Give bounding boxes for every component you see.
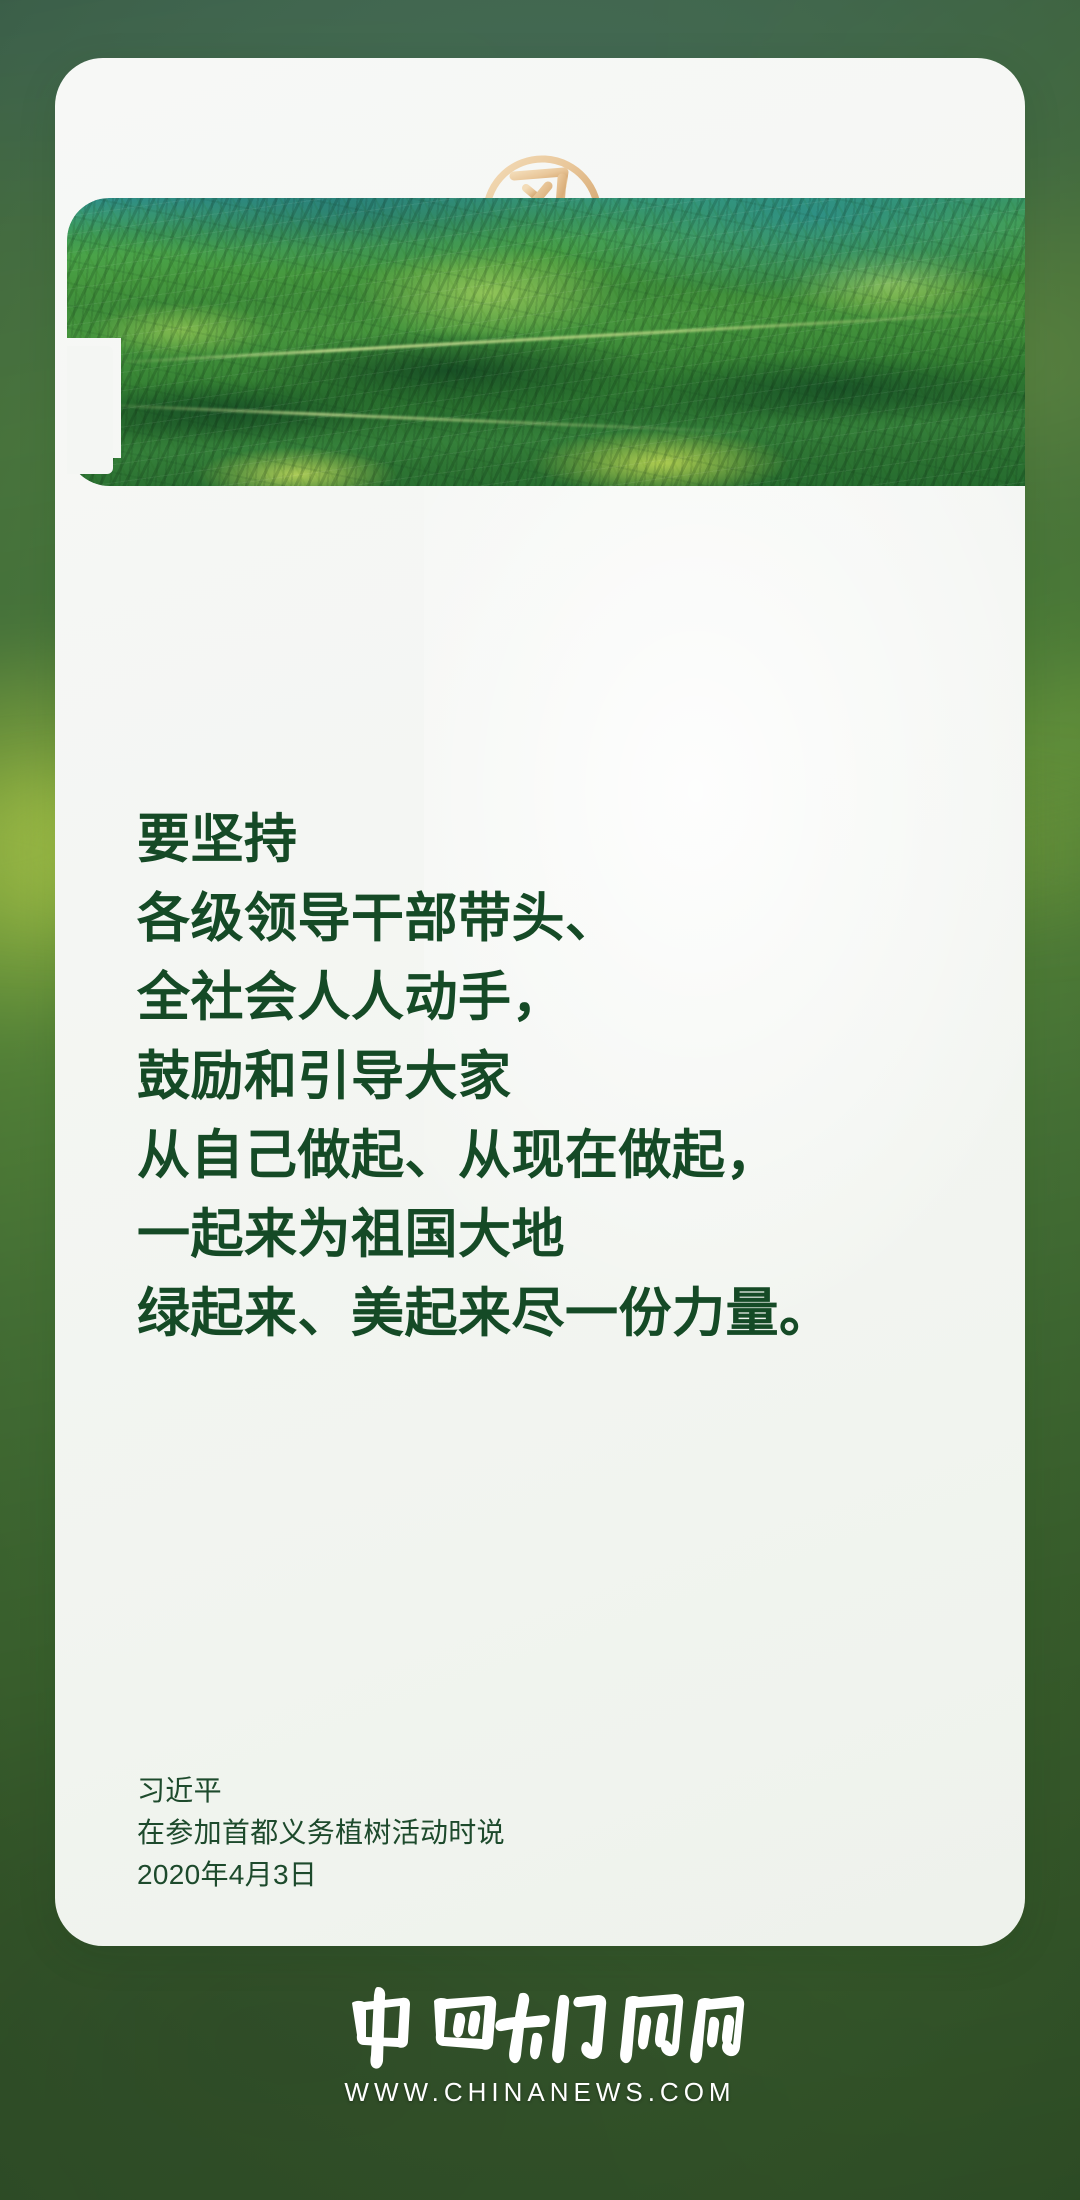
quote-line: 全社会人人动手， [137, 958, 977, 1037]
attribution-date: 2020年4月3日 [137, 1854, 937, 1896]
footer: WWW.CHINANEWS.COM [0, 1985, 1080, 2108]
poster-root: 要坚持 各级领导干部带头、 全社会人人动手， 鼓励和引导大家 从自己做起、从现在… [0, 0, 1080, 2200]
hero-photo-texture-overlay [67, 198, 1025, 486]
quote-line: 要坚持 [137, 800, 977, 879]
quote-line: 绿起来、美起来尽一份力量。 [137, 1274, 977, 1353]
quote-line: 各级领导干部带头、 [137, 879, 977, 958]
quote-line: 鼓励和引导大家 [137, 1037, 977, 1116]
hero-photo [67, 198, 1025, 486]
content-card: 要坚持 各级领导干部带头、 全社会人人动手， 鼓励和引导大家 从自己做起、从现在… [55, 58, 1025, 1946]
hero-photo-frame [67, 198, 1025, 486]
footer-url: WWW.CHINANEWS.COM [0, 2077, 1080, 2108]
attribution-speaker: 习近平 [137, 1770, 937, 1812]
attribution-block: 习近平 在参加首都义务植树活动时说 2020年4月3日 [137, 1770, 937, 1896]
quote-line: 一起来为祖国大地 [137, 1195, 977, 1274]
attribution-occasion: 在参加首都义务植树活动时说 [137, 1812, 937, 1854]
quote-line: 从自己做起、从现在做起， [137, 1116, 977, 1195]
quote-block: 要坚持 各级领导干部带头、 全社会人人动手， 鼓励和引导大家 从自己做起、从现在… [137, 800, 977, 1353]
chinanews-logo-icon [330, 1985, 750, 2071]
photo-notch-cutout [67, 346, 113, 474]
